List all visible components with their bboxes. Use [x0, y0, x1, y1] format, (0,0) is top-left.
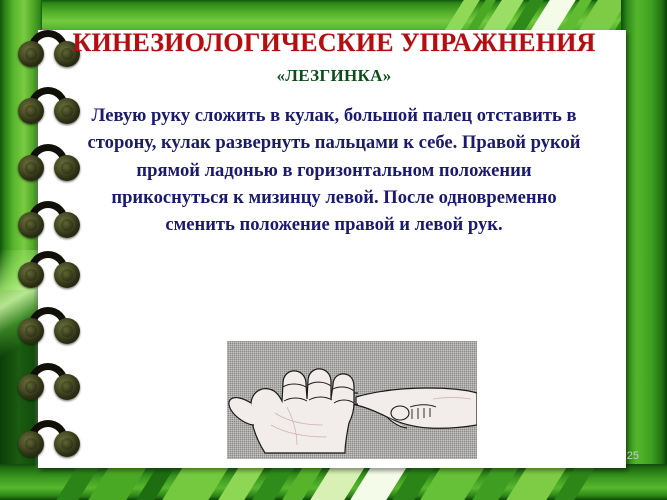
slide-subtitle: «ЛЕЗГИНКА» [60, 66, 608, 86]
slide: КИНЕЗИОЛОГИЧЕСКИЕ УПРАЖНЕНИЯ «ЛЕЗГИНКА» … [0, 0, 667, 500]
frame-bottom-diagonal-stripes [0, 464, 667, 500]
page-number: 25 [627, 450, 639, 462]
slide-title: КИНЕЗИОЛОГИЧЕСКИЕ УПРАЖНЕНИЯ [60, 28, 608, 57]
frame-bottom-border [0, 464, 667, 500]
slide-body-text: Левую руку сложить в кулак, большой пале… [84, 102, 584, 239]
frame-right-border [621, 0, 667, 500]
slide-content: КИНЕЗИОЛОГИЧЕСКИЕ УПРАЖНЕНИЯ «ЛЕЗГИНКА» … [60, 28, 608, 239]
hands-exercise-illustration [227, 341, 477, 459]
hands-drawing [227, 341, 477, 459]
